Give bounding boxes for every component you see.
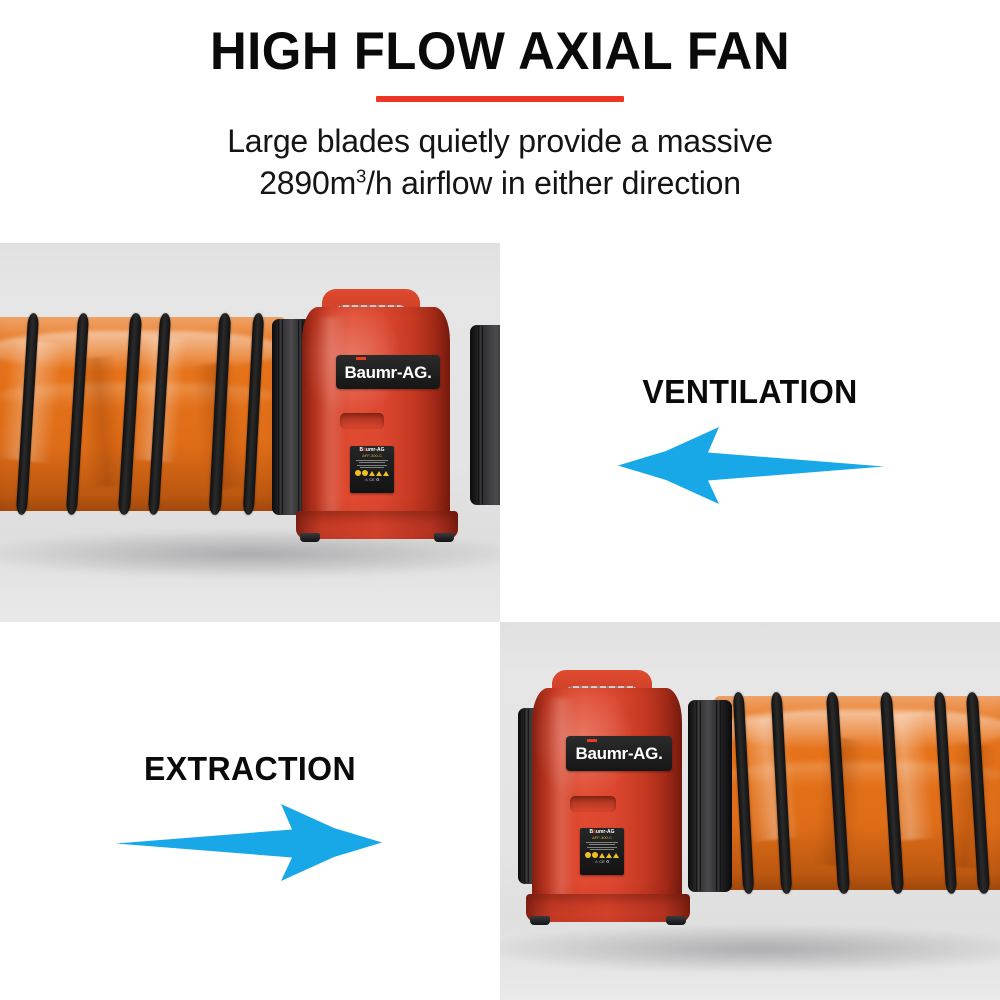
- warning-triangle-icon: [599, 853, 605, 858]
- warning-triangle-icon: [376, 471, 382, 476]
- callout-panel-extraction: EXTRACTION: [0, 622, 500, 1000]
- arrow-left-icon: [616, 425, 884, 505]
- housing-recess: [340, 413, 384, 429]
- duct-strap: [66, 313, 89, 515]
- subtitle: Large blades quietly provide a massive 2…: [0, 102, 1000, 205]
- spec-plate-warning-icons: [350, 470, 394, 476]
- spec-plate: Bäumr-AG AFF-300-C ⚠ CE ♻: [580, 828, 624, 875]
- duct-strap: [880, 692, 904, 894]
- spec-plate: Bäumr-AG AFF-300-C ⚠ CE ♻: [350, 446, 394, 493]
- brand-suffix: umr-AG.: [366, 363, 432, 382]
- duct-highlight: [714, 710, 1000, 749]
- page-title: HIGH FLOW AXIAL FAN: [20, 0, 980, 80]
- duct-strap: [733, 692, 755, 894]
- duct-collar-right: [470, 325, 500, 505]
- duct-strap: [118, 313, 142, 515]
- warning-triangle-icon: [369, 471, 375, 476]
- collar-ring: [524, 708, 529, 884]
- warning-triangle-icon: [383, 471, 389, 476]
- warning-circle-icon: [592, 852, 598, 858]
- warning-triangle-icon: [606, 853, 612, 858]
- photo-ventilation: Baumr-AG. Bäumr-AG AFF-300-C ⚠ CE ♻: [0, 243, 500, 622]
- duct-strap: [243, 313, 265, 515]
- warning-circle-icon: [585, 852, 591, 858]
- extraction-scene: Baumr-AG. Bäumr-AG AFF-300-C ⚠ CE ♻: [500, 622, 1000, 1000]
- spec-plate-warning-icons: [580, 852, 624, 858]
- extraction-label: EXTRACTION: [8, 750, 493, 788]
- collar-ring: [478, 325, 483, 505]
- callout-extraction: EXTRACTION: [0, 750, 500, 882]
- spec-plate-model: AFF-300-C: [580, 836, 624, 841]
- arrow-right-icon: [116, 802, 384, 882]
- fan-foot: [530, 916, 550, 925]
- duct-strap: [16, 313, 39, 515]
- brand-badge: Baumr-AG.: [336, 355, 440, 389]
- callout-ventilation: VENTILATION: [500, 373, 1000, 505]
- duct-highlight-secondary: [726, 762, 1000, 787]
- housing-recess: [570, 796, 616, 812]
- fan-foot: [666, 916, 686, 925]
- duct-strap: [826, 692, 850, 894]
- brand-suffix: umr-AG.: [597, 744, 663, 763]
- collar-ring: [696, 700, 701, 892]
- duct-hose: [0, 317, 286, 511]
- duct-strap: [934, 692, 957, 894]
- brand-umlaut-a: a: [587, 744, 596, 763]
- duct-strap: [966, 692, 990, 894]
- ventilation-arrow-wrapper: [500, 425, 1000, 505]
- airflow-value: 2890m: [259, 165, 356, 201]
- duct-highlight: [0, 331, 286, 370]
- photo-extraction: Baumr-AG. Bäumr-AG AFF-300-C ⚠ CE ♻: [500, 622, 1000, 1000]
- spec-plate-certifications: ⚠ CE ♻: [580, 860, 624, 864]
- extraction-arrow-wrapper: [0, 802, 500, 882]
- spec-plate-text-lines: [350, 460, 394, 468]
- subtitle-line-2: 2890m3/h airflow in either direction: [0, 162, 1000, 205]
- fan-foot: [434, 533, 454, 542]
- collar-ring: [716, 700, 721, 892]
- brand-badge: Baumr-AG.: [566, 736, 672, 771]
- callout-panel-ventilation: VENTILATION: [500, 243, 1000, 622]
- warning-circle-icon: [355, 470, 361, 476]
- duct-strap: [148, 313, 171, 515]
- ventilation-scene: Baumr-AG. Bäumr-AG AFF-300-C ⚠ CE ♻: [0, 243, 500, 622]
- subtitle-line-2-tail: /h airflow in either direction: [366, 165, 741, 201]
- duct-strap: [771, 692, 793, 894]
- cubic-superscript: 3: [356, 166, 366, 187]
- duct-hose: [714, 696, 1000, 890]
- brand-umlaut-a: a: [356, 363, 365, 382]
- ventilation-label: VENTILATION: [508, 373, 993, 411]
- spec-plate-certifications: ⚠ CE ♻: [350, 478, 394, 482]
- collar-ring: [278, 319, 283, 515]
- subtitle-line-1: Large blades quietly provide a massive: [0, 120, 1000, 163]
- brand-prefix: B: [575, 744, 587, 763]
- fan-foot: [300, 533, 320, 542]
- brand-badge-text: Baumr-AG.: [344, 364, 431, 381]
- spec-plate-model: AFF-300-C: [350, 454, 394, 459]
- duct-strap: [209, 313, 232, 515]
- duct-collar-right: [688, 700, 732, 892]
- header: HIGH FLOW AXIAL FAN Large blades quietly…: [0, 0, 1000, 243]
- warning-triangle-icon: [613, 853, 619, 858]
- spec-plate-text-lines: [580, 842, 624, 850]
- brand-badge-text: Baumr-AG.: [575, 745, 662, 762]
- floor-shadow: [500, 926, 1000, 972]
- warning-circle-icon: [362, 470, 368, 476]
- brand-prefix: B: [344, 363, 356, 382]
